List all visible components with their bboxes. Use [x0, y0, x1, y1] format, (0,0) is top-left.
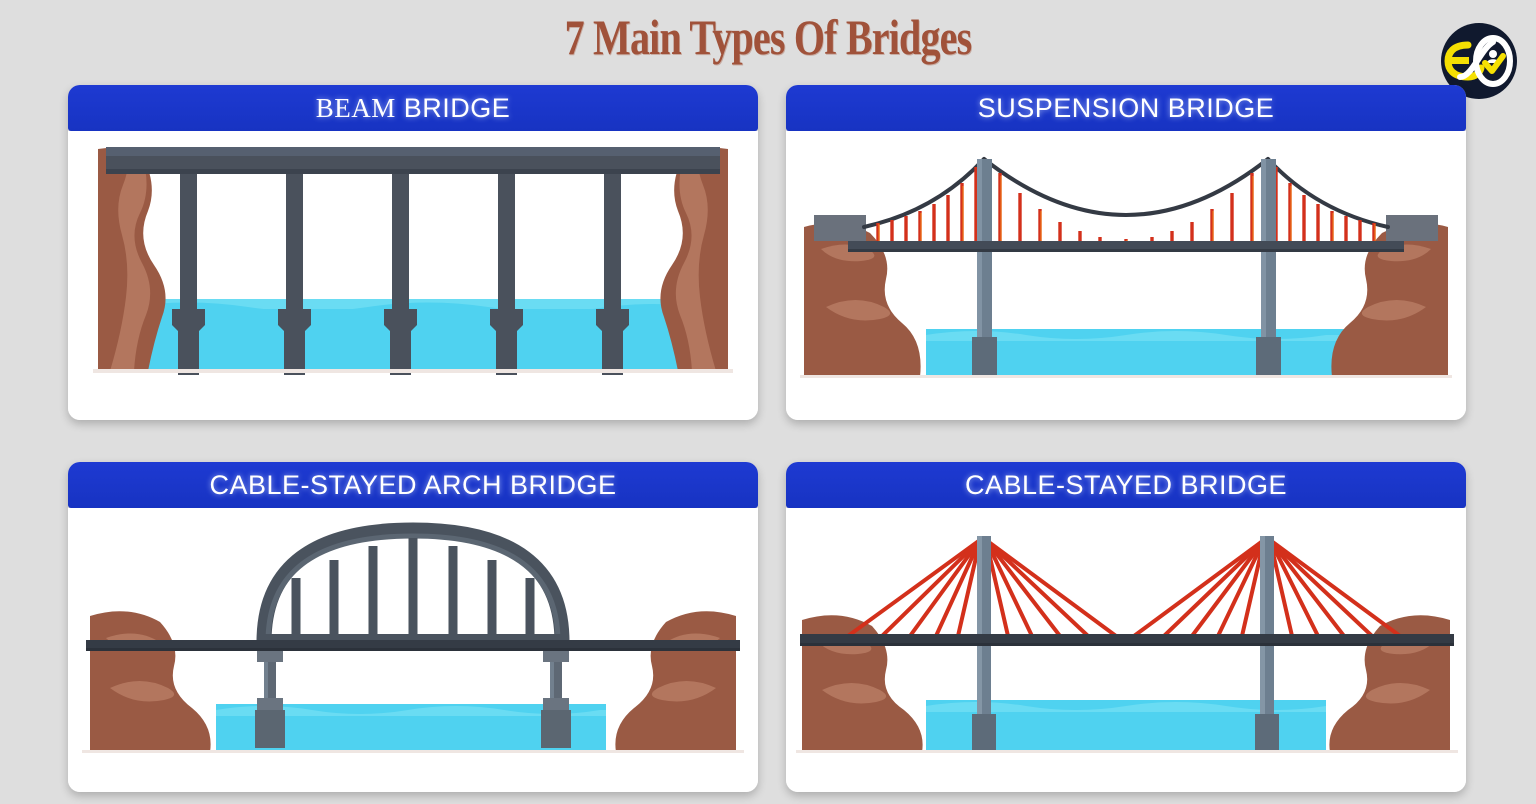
- card-cable-stayed-arch-bridge[interactable]: CABLE-STAYED ARCH BRIDGE: [68, 462, 758, 792]
- beam-bridge-illustration: [68, 131, 758, 420]
- card-body-cable-stayed-bridge: [786, 508, 1466, 792]
- card-header-cable-stayed-bridge: CABLE-STAYED BRIDGE: [786, 462, 1466, 508]
- card-title-suspension-bridge: SUSPENSION BRIDGE: [978, 93, 1275, 124]
- card-title-cable-stayed-bridge: CABLE-STAYED BRIDGE: [965, 470, 1287, 501]
- card-title-beam-bridge: BEAM BRIDGE: [316, 93, 511, 124]
- infographic-page: 7 Main Types Of Bridges BEAM BRIDGE: [0, 0, 1536, 804]
- card-body-suspension-bridge: [786, 131, 1466, 420]
- card-body-cable-stayed-arch-bridge: [68, 508, 758, 792]
- card-body-beam-bridge: [68, 131, 758, 420]
- cable-stayed-arch-bridge-illustration: [68, 508, 758, 792]
- suspension-bridge-illustration: [786, 131, 1466, 420]
- card-header-cable-stayed-arch-bridge: CABLE-STAYED ARCH BRIDGE: [68, 462, 758, 508]
- card-title-cable-stayed-arch-bridge: CABLE-STAYED ARCH BRIDGE: [209, 470, 616, 501]
- card-beam-bridge[interactable]: BEAM BRIDGE: [68, 85, 758, 420]
- card-header-beam-bridge: BEAM BRIDGE: [68, 85, 758, 131]
- card-suspension-bridge[interactable]: SUSPENSION BRIDGE: [786, 85, 1466, 420]
- cable-stayed-bridge-illustration: [786, 508, 1466, 792]
- card-header-suspension-bridge: SUSPENSION BRIDGE: [786, 85, 1466, 131]
- page-title: 7 Main Types Of Bridges: [154, 8, 1383, 66]
- card-cable-stayed-bridge[interactable]: CABLE-STAYED BRIDGE: [786, 462, 1466, 792]
